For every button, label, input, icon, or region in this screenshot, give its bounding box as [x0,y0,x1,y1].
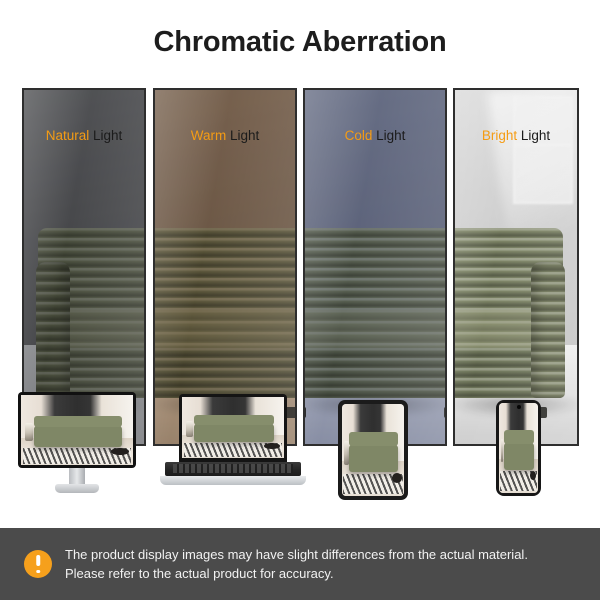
warning-exclamation-icon [24,550,52,578]
sofa-seat [155,310,295,352]
exclamation-dot [36,570,40,574]
screen-lamp [501,439,504,462]
panel-label-natural: Natural Light [24,128,144,143]
monitor-bezel [18,392,136,468]
room-scene [305,90,445,444]
laptop-base [160,476,306,485]
screen-sofa [34,426,121,447]
sofa-arm-left [36,262,70,398]
page-title: Chromatic Aberration [153,26,446,59]
panel-label-rest: Light [226,128,259,143]
sofa-base [155,348,295,398]
disclaimer-line-1: The product display images may have slig… [65,545,528,564]
lighting-panel-cold[interactable]: Cold Light [303,88,447,446]
sofa-product [305,222,445,408]
lighting-panel-warm[interactable]: Warm Light [153,88,297,446]
device-tablet[interactable] [338,400,408,500]
panel-label-cold: Cold Light [305,128,445,143]
sofa-product [155,222,295,408]
sofa-back-cushions [155,228,295,314]
device-desktop-monitor[interactable] [18,392,136,493]
panel-label-bright: Bright Light [455,128,577,143]
screen-coffee-table [111,448,129,456]
room-scene [455,90,577,444]
screen-lamp [186,421,193,437]
screen-lamp [344,441,348,465]
laptop-keyboard [165,462,301,476]
sofa-product [455,222,563,408]
panel-label-rest: Light [372,128,405,143]
screen-sofa [349,445,397,473]
sofa-product [38,222,144,408]
sofa-base [305,348,445,398]
screen-sofa [504,443,534,470]
tablet-screen [342,404,404,496]
panel-label-rest: Light [89,128,122,143]
exclamation-stroke [36,555,40,566]
laptop-screen [182,397,284,458]
screen-lamp [25,423,33,441]
sofa-foot [444,407,445,418]
monitor-stand-base [55,484,99,493]
lighting-panel-bright[interactable]: Bright Light [453,88,579,446]
panel-label-accent: Warm [191,128,227,143]
screen-coffee-table [392,473,402,483]
panel-label-accent: Natural [46,128,90,143]
sofa-back-cushions [305,228,445,314]
screen-sofa [194,424,274,442]
page-header: Chromatic Aberration [0,0,600,84]
disclaimer-bar: The product display images may have slig… [0,528,600,600]
device-smartphone[interactable] [496,400,541,496]
room-scene [155,90,295,444]
panel-label-warm: Warm Light [155,128,295,143]
disclaimer-text: The product display images may have slig… [65,545,528,583]
sofa-seat [305,310,445,352]
device-laptop[interactable] [160,394,306,485]
phone-camera-icon [517,405,521,409]
phone-body [496,400,541,496]
panel-label-rest: Light [517,128,550,143]
panel-label-accent: Bright [482,128,517,143]
monitor-screen [21,395,133,465]
disclaimer-line-2: Please refer to the actual product for a… [65,564,528,583]
room-scene [24,90,144,444]
phone-screen [499,403,538,493]
monitor-stand-neck [69,468,85,484]
panel-label-accent: Cold [345,128,373,143]
laptop-lid [179,394,287,462]
sofa-arm-right [531,262,565,398]
tablet-body [338,400,408,500]
